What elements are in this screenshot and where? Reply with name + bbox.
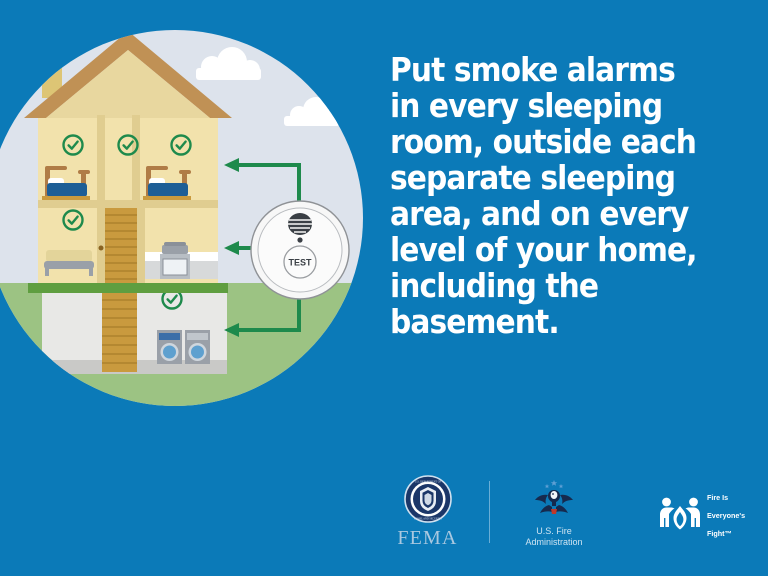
footer-logos: U.S. DEPARTMENT OF HOMELAND SECURITY FEM… (380, 462, 760, 562)
usfa-eagle-seal (531, 476, 577, 522)
dhs-seal: U.S. DEPARTMENT OF HOMELAND SECURITY (403, 474, 453, 524)
wall-main-2 (137, 208, 145, 283)
alarm-vent-icon (288, 213, 312, 235)
alarm-led-icon (297, 237, 302, 242)
floor-divider-upper (38, 200, 218, 208)
wall-upper-1 (97, 115, 105, 200)
stove-icon (160, 242, 190, 279)
fema-wordmark: FEMA (397, 527, 457, 550)
svg-text:HOMELAND SECURITY: HOMELAND SECURITY (413, 518, 441, 521)
usfa-wordmark: U.S. Fire Administration (525, 526, 582, 549)
smoke-alarm: TEST (251, 201, 349, 299)
usfa-line1: U.S. Fire (536, 526, 572, 536)
headline-text: Put smoke alarms in every sleeping room,… (390, 52, 730, 340)
fief-logo: Fire Is Everyone's Fight™ (658, 486, 745, 539)
washer-icon (157, 330, 182, 364)
chimney-cap (40, 45, 64, 52)
wall-upper-2 (132, 115, 140, 200)
alarm-test-label: TEST (288, 258, 312, 268)
fief-line3: Fight™ (707, 529, 732, 538)
logo-divider (489, 481, 490, 543)
fief-wordmark: Fire Is Everyone's Fight™ (707, 486, 745, 539)
fief-line1: Fire Is (707, 493, 728, 502)
svg-text:U.S. DEPARTMENT OF: U.S. DEPARTMENT OF (414, 480, 441, 483)
poster-canvas: TEST Put smoke alarms in every sleeping … (0, 0, 768, 576)
fire-is-everyones-fight-icon (658, 494, 702, 530)
usfa-logo: U.S. Fire Administration (504, 476, 604, 549)
usfa-line2: Administration (525, 537, 582, 547)
stairs-basement (102, 292, 137, 372)
fief-line2: Everyone's (707, 511, 745, 520)
house-illustration: TEST (0, 0, 380, 430)
ground-slab (28, 283, 228, 293)
fema-logo: U.S. DEPARTMENT OF HOMELAND SECURITY FEM… (380, 474, 475, 550)
dryer-icon (185, 330, 210, 364)
